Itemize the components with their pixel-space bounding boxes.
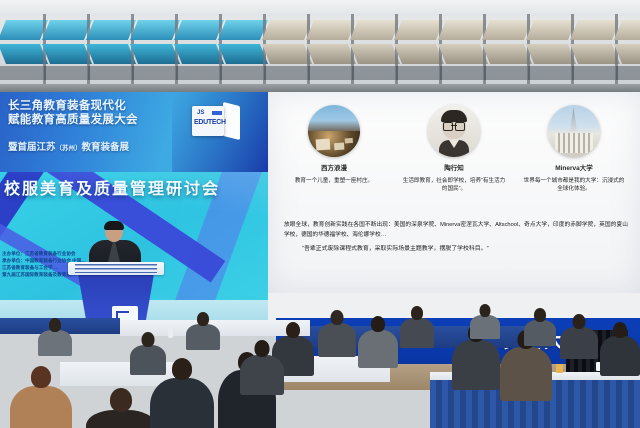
ceiling-panel <box>484 14 530 84</box>
speaker-hair <box>104 221 124 230</box>
audience-person-torso <box>400 318 434 348</box>
ceiling-panel-band <box>0 14 640 84</box>
audience-person-head <box>31 366 51 388</box>
banner-title-line-3-prefix: 暨首届江苏 <box>8 142 56 153</box>
audience-person-head <box>172 358 192 380</box>
audience-person-torso <box>452 340 500 390</box>
audience-person-head <box>573 314 586 329</box>
audience-person-torso <box>560 327 598 359</box>
slide-card-2-description: 生活即教育，社会即学校，培养“有生活力的国民”。 <box>392 177 516 193</box>
podium-sign-text <box>75 264 157 273</box>
banner-title-line-2: 赋能教育高质量发展大会 <box>8 114 193 128</box>
minerva-university-building-icon <box>548 105 600 157</box>
audience-person-head <box>371 316 385 332</box>
audience-person-head <box>49 318 61 332</box>
audience-person <box>38 318 72 356</box>
banner-title-line-3-suffix: 教育装备展 <box>82 142 130 153</box>
audience-person-torso <box>470 315 500 339</box>
village-landscape-painting-icon <box>308 105 360 157</box>
audience-person <box>318 310 356 357</box>
audience-person-torso <box>38 330 72 356</box>
audience-person-torso <box>500 347 552 401</box>
audience-person <box>10 366 72 428</box>
audience-person-torso <box>86 410 156 428</box>
banner-subtitle: 校服美育及质量管理研讨会 <box>4 180 254 199</box>
audience-person-head <box>197 312 209 326</box>
audience-person-head <box>286 322 300 338</box>
snack-plate <box>556 364 563 373</box>
banner-title-line-3-paren: （苏州） <box>56 145 82 152</box>
ceiling-panel <box>44 14 90 84</box>
banner-title-line-1: 长三角教育装备现代化 <box>8 100 193 114</box>
audience-person <box>86 388 156 428</box>
ceiling-panel <box>396 14 442 84</box>
audience-person-head <box>411 306 423 320</box>
podium-sign <box>68 262 164 275</box>
audience-person <box>358 316 398 368</box>
ceiling-panel <box>528 14 574 84</box>
audience-person <box>130 332 166 375</box>
audience-person-head <box>613 322 627 338</box>
logo-text-edutech: EDUTECH <box>194 119 226 126</box>
ceiling-panel <box>88 14 134 84</box>
logo-text-js: JS <box>197 110 204 116</box>
audience-person-torso <box>186 324 220 350</box>
audience-person <box>240 340 284 395</box>
audience-person-torso <box>358 330 398 368</box>
audience-person-torso <box>130 345 166 375</box>
water-bottle <box>168 324 173 338</box>
audience-person-head <box>110 388 132 412</box>
ceiling-panel <box>220 14 266 84</box>
slide-card-2: 陶行知 生活即教育，社会即学校，培养“有生活力的国民”。 <box>392 99 516 193</box>
audience-person-head <box>480 304 491 317</box>
tao-xingzhi-portrait-icon <box>428 105 480 157</box>
ceiling-panel <box>264 14 310 84</box>
portrait-face <box>439 110 469 156</box>
ceiling-panel <box>572 14 618 84</box>
audience-area <box>0 300 640 428</box>
audience-person <box>560 314 598 359</box>
audience-person-head <box>255 340 270 357</box>
audience-person <box>600 322 640 376</box>
logo-accent-bar <box>212 111 222 115</box>
audience-person <box>186 312 220 350</box>
slide-card-3-description: 世界每一个城市都是我的大学：沉浸式的全球化体验。 <box>512 177 636 193</box>
audience-person <box>470 304 500 339</box>
ceiling-panel <box>352 14 398 84</box>
slide-card-1-caption: 西方浪漫 <box>272 162 396 172</box>
ceiling <box>0 0 640 96</box>
audience-person-torso <box>600 336 640 376</box>
slide-card-2-caption: 陶行知 <box>392 162 516 172</box>
audience-person <box>400 306 434 348</box>
conference-photo: 西方浪漫 教育一个儿童，重塑一座村庄。 陶行知 生活即教育，社会即学校，培养“有… <box>0 0 640 428</box>
slide-card-3-caption: Minerva大学 <box>512 162 636 172</box>
audience-person-head <box>534 308 546 322</box>
banner-title-line-3: 暨首届江苏（苏州）教育装备展 <box>8 142 208 154</box>
slide-card-3: Minerva大学 世界每一个城市都是我的大学：沉浸式的全球化体验。 <box>512 99 636 193</box>
slide-card-1: 西方浪漫 教育一个儿童，重塑一座村庄。 <box>272 99 396 185</box>
ceiling-panel <box>308 14 354 84</box>
slide-paragraph: 放眼全球，教育创新实践在各国不断出现：美国的深泉学院、Minerva密涅瓦大学、… <box>284 221 628 240</box>
slide-card-1-description: 教育一个儿童，重塑一座村庄。 <box>272 177 396 185</box>
projection-screen: 西方浪漫 教育一个儿童，重塑一座村庄。 陶行知 生活即教育，社会即学校，培养“有… <box>268 93 640 293</box>
banner-title: 长三角教育装备现代化 赋能教育高质量发展大会 <box>8 100 193 127</box>
ceiling-panel <box>132 14 178 84</box>
audience-person-head <box>142 332 155 347</box>
ceiling-panel <box>616 14 640 84</box>
audience-person-head <box>331 310 344 325</box>
audience-person <box>524 308 556 346</box>
audience-person-torso <box>524 320 556 346</box>
slide-quote: “吾辈正式废除课程式教育，采取实际场景主题教学，摆脱了学校科目。” <box>302 245 622 254</box>
ceiling-panel <box>0 14 46 84</box>
audience-person-torso <box>150 378 214 428</box>
ceiling-panel <box>176 14 222 84</box>
audience-person-torso <box>240 355 284 395</box>
js-edutech-logo: JS EDUTECH <box>192 106 240 140</box>
logo-card-shape: JS EDUTECH <box>192 106 224 136</box>
audience-person-torso <box>318 323 356 357</box>
ceiling-panel <box>440 14 486 84</box>
slide-card-row: 西方浪漫 教育一个儿童，重塑一座村庄。 陶行知 生活即教育，社会即学校，培养“有… <box>268 99 640 204</box>
audience-person-torso <box>10 386 72 428</box>
